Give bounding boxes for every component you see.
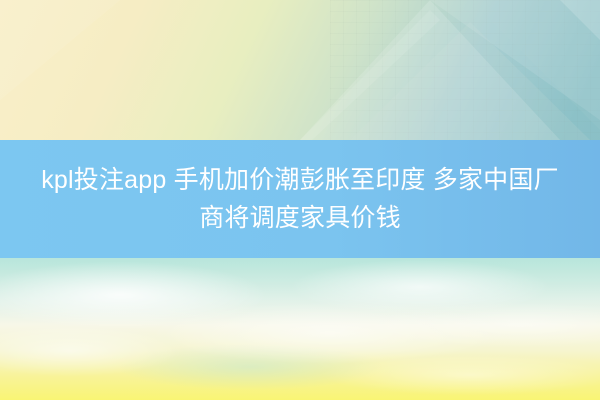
article-banner: kpl投注app 手机加价潮彭胀至印度 多家中国厂商将调度家具价钱 xyxy=(0,0,600,400)
grid-texture xyxy=(330,0,600,145)
page-title: kpl投注app 手机加价潮彭胀至印度 多家中国厂商将调度家具价钱 xyxy=(20,161,580,237)
background-clouds xyxy=(0,255,600,400)
background-sky-gradient xyxy=(0,255,600,400)
background-mint-veil xyxy=(0,255,600,325)
headline-band: kpl投注app 手机加价潮彭胀至印度 多家中国厂商将调度家具价钱 xyxy=(0,140,600,258)
